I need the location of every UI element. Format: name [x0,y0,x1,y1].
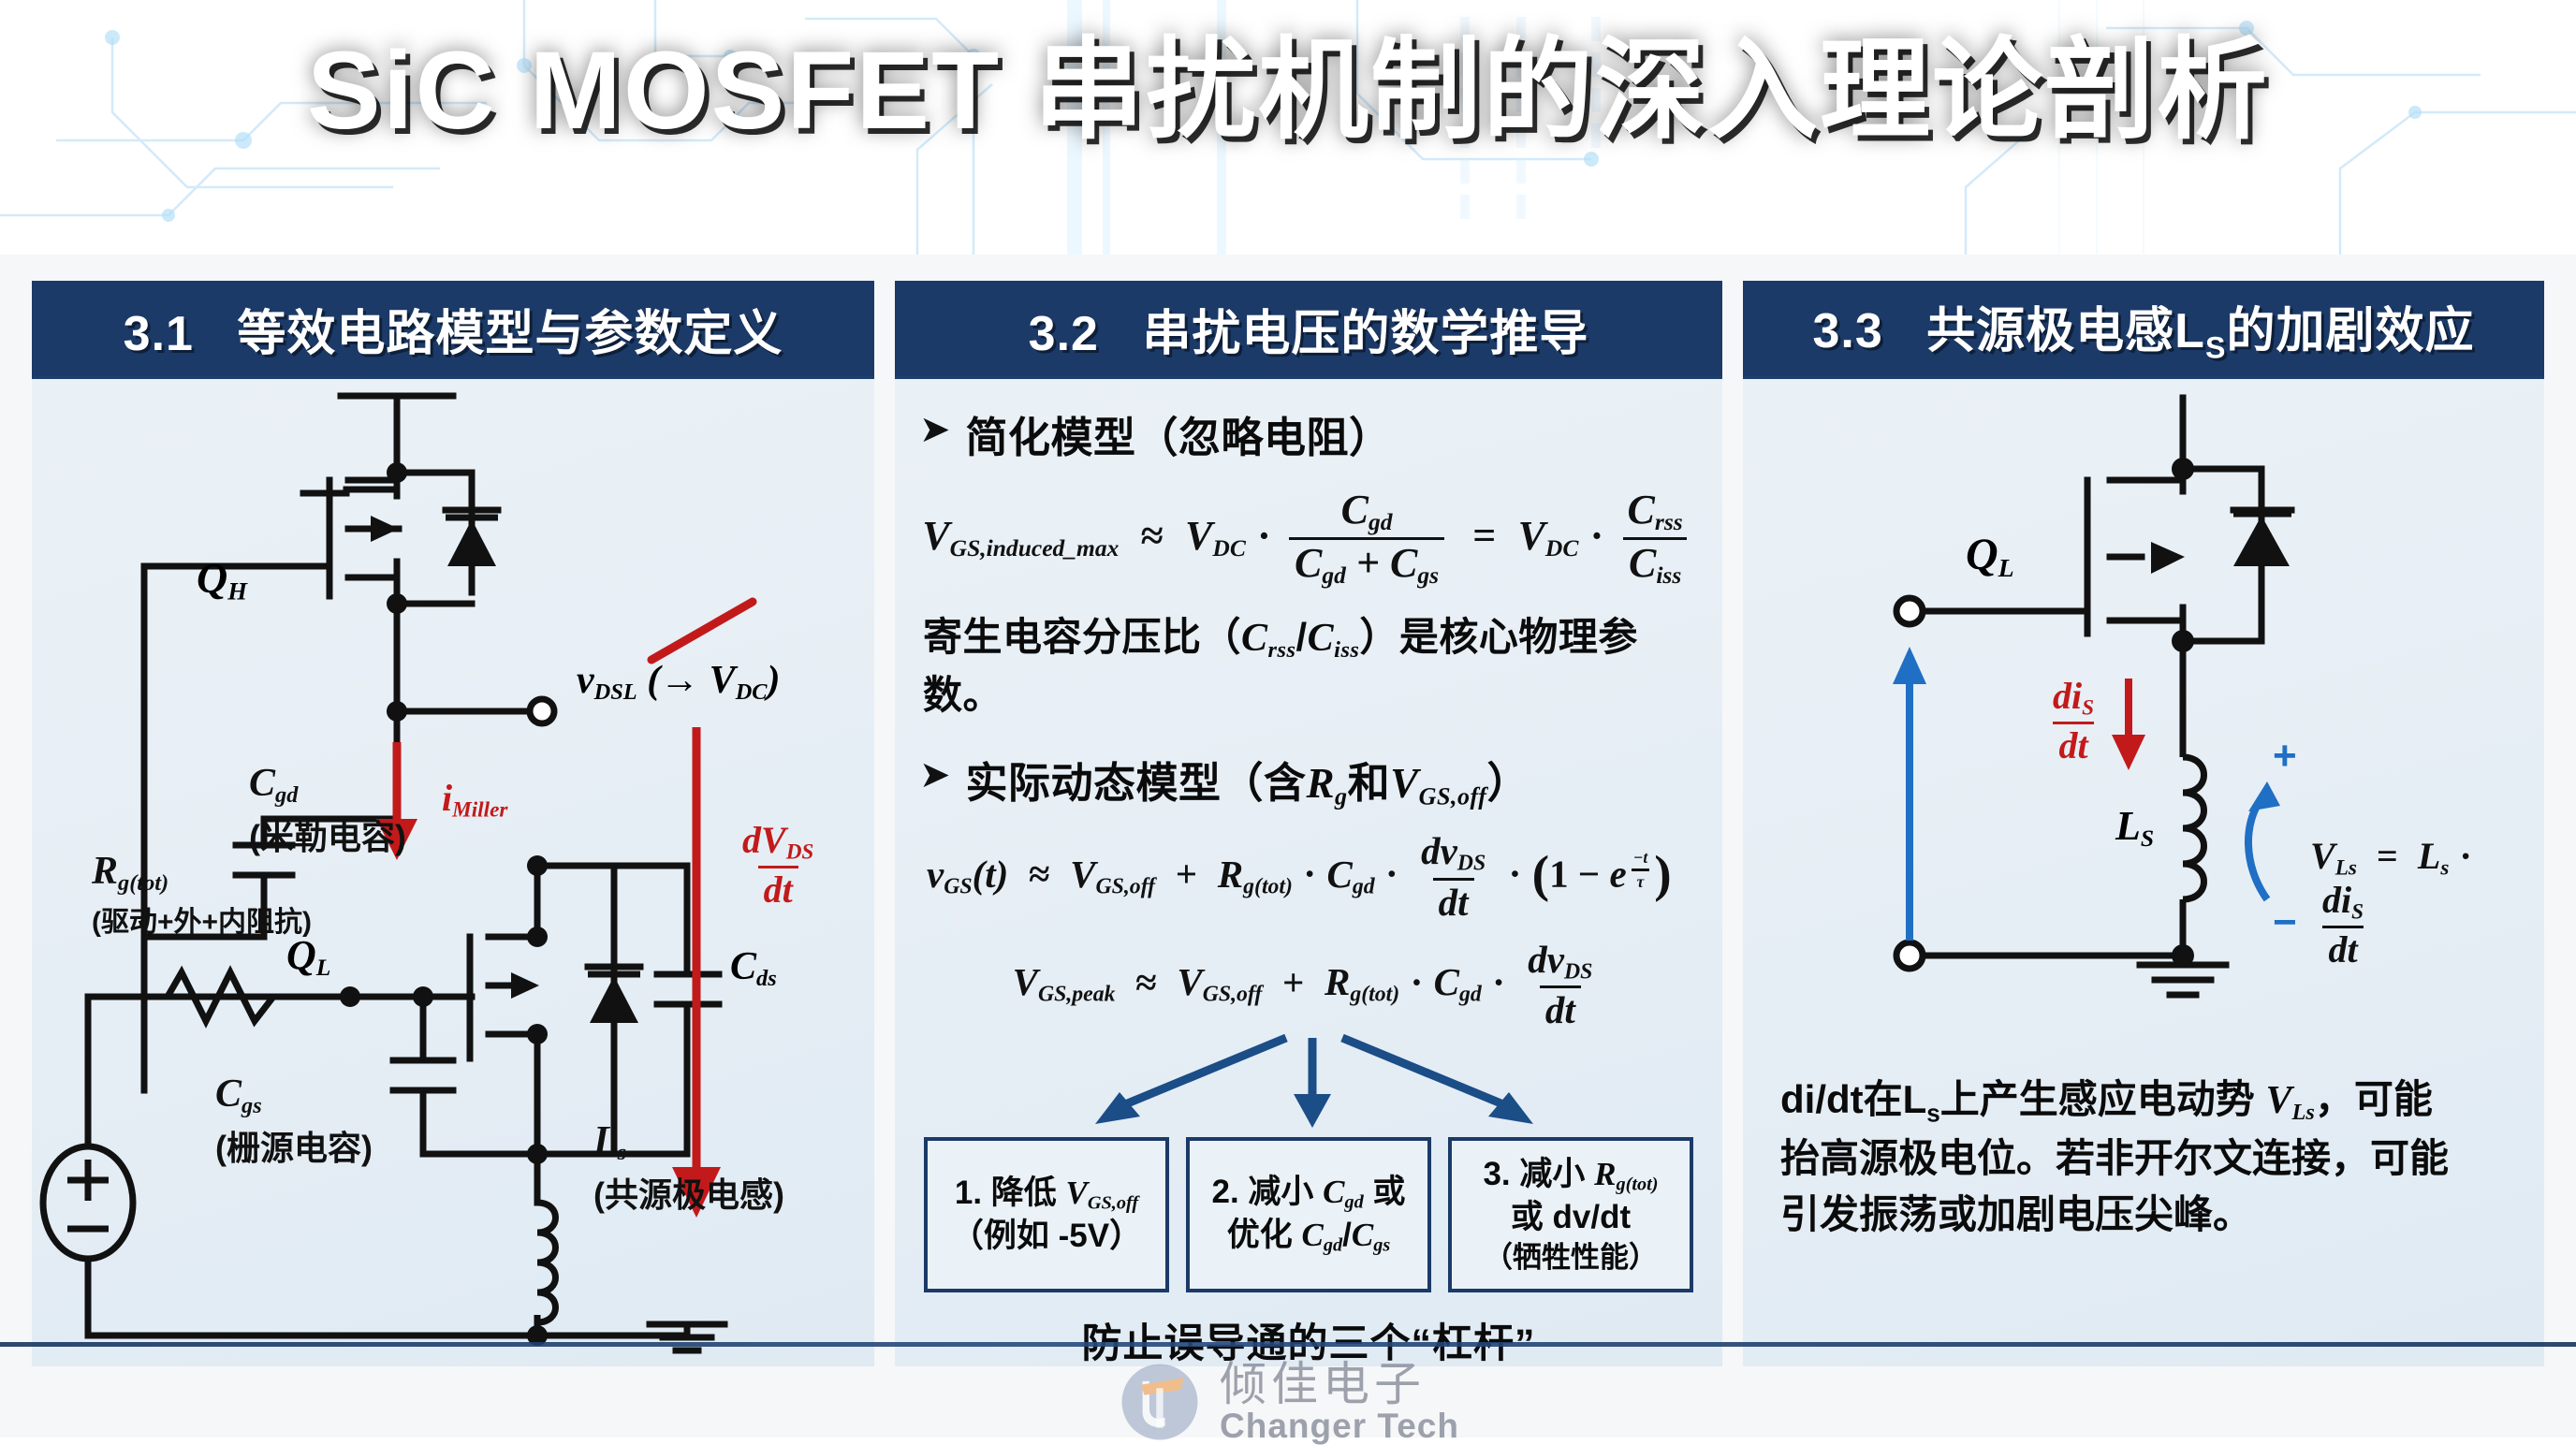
panel-2-title: 串扰电压的数学推导 [1142,307,1588,361]
label-vdsl: vDSL (→ VDC) [577,658,781,706]
changer-tech-logo-icon [1117,1359,1203,1445]
panel-3-number: 3.3 [1813,304,1883,358]
polarity-plus: + [2273,733,2297,780]
bullet-simplified-model: ➤ 简化模型（忽略电阻） [919,403,1698,464]
panel-math-derivation: 3.2 串扰电压的数学推导 ➤ 简化模型（忽略电阻） VGS,induced_m… [895,281,1722,1366]
equation-vls: VLs = Ls · diS dt [2310,834,2544,970]
label-dis-dt: diS dt [2041,677,2106,766]
panel-equivalent-circuit: 3.1 等效电路模型与参数定义 [32,281,874,1366]
panel-3-explanation: di/dt在Ls上产生感应电动势 VLs，可能 抬高源极电位。若非开尔文连接，可… [1780,1072,2512,1243]
label-cgs: Cgs (栅源电容) [215,1072,373,1170]
equation-vgs-t: vGS(t) ≈ VGS,off + Rg(tot) · Cgd · dvDS … [919,831,1698,923]
panel-1-body: QH vDSL (→ VDC) Cgd (米勒电容) iMiller dVDS … [32,376,874,1366]
label-ls-panel3: LS [2115,802,2154,853]
lever-box-2[interactable]: 2. 减小 Cgd 或 优化 Cgd/Cgs [1186,1137,1431,1292]
page-title: SiC MOSFET 串扰机制的深入理论剖析 [0,21,2576,162]
footer-divider [0,1342,2576,1347]
polarity-minus: − [2273,899,2297,946]
note-capacitance-ratio: 寄生电容分压比（Crss/Ciss）是核心物理参数。 [923,606,1698,721]
panel-container: 3.1 等效电路模型与参数定义 [32,281,2544,1366]
panel-source-inductance: 3.3 共源极电感LS的加剧效应 [1743,281,2544,1366]
panel-2-body: ➤ 简化模型（忽略电阻） VGS,induced_max ≈ VDC · Cgd… [895,376,1722,1366]
chevron-right-icon: ➤ [919,411,951,448]
panel-1-header: 3.1 等效电路模型与参数定义 [32,281,874,376]
three-levers-arrows [919,1034,1705,1135]
panel-2-header: 3.2 串扰电压的数学推导 [895,281,1722,376]
panel-2-number: 3.2 [1029,307,1099,361]
label-ql-panel3: QL [1966,529,2014,584]
panel-3-title-pre: 共源极电感L [1926,304,2205,358]
label-i-miller: iMiller [442,776,507,823]
page-header: SiC MOSFET 串扰机制的深入理论剖析 [0,0,2576,255]
lever-box-3[interactable]: 3. 减小 Rg(tot) 或 dv/dt （牺牲性能） [1448,1137,1693,1292]
label-ls: Ls (共源极电感) [593,1118,784,1217]
brand-name-cn: 倾佳电子 [1220,1360,1459,1409]
slide-body: 3.1 等效电路模型与参数定义 [0,255,2576,1438]
label-dvds-dt: dVDS dt [730,821,826,910]
label-cds: Cds [730,944,777,992]
equation-vgs-peak: VGS,peak ≈ VGS,off + Rg(tot) · Cgd · dvD… [919,940,1698,1031]
bullet-dynamic-model: ➤ 实际动态模型（含Rg和VGS,off） [919,749,1698,810]
panel-3-title-sub: S [2205,331,2227,365]
panel-1-number: 3.1 [124,307,194,361]
label-cgd: Cgd (米勒电容) [249,761,406,859]
panel-3-header: 3.3 共源极电感LS的加剧效应 [1743,281,2544,376]
chevron-right-icon-2: ➤ [919,756,951,794]
equation-vgs-induced-max: VGS,induced_max ≈ VDC · Cgd Cgd + Cgs = … [919,489,1698,589]
label-rg: Rg(tot) (驱动+外+内阻抗) [92,849,312,940]
label-ql: QL [286,931,330,982]
brand-name-en: Changer Tech [1220,1409,1459,1444]
panel-3-title-post: 的加剧效应 [2226,304,2474,358]
panel-1-title: 等效电路模型与参数定义 [237,307,783,361]
label-qh: QH [197,553,247,606]
lever-box-1[interactable]: 1. 降低 VGS,off （例如 -5V） [924,1137,1169,1292]
footer-brand: 倾佳电子 Changer Tech [0,1359,2576,1445]
panel-3-body: QL diS dt LS + − VLs [1743,376,2544,1366]
lever-boxes: 1. 降低 VGS,off （例如 -5V） 2. 减小 Cgd 或 优化 Cg… [919,1137,1698,1292]
